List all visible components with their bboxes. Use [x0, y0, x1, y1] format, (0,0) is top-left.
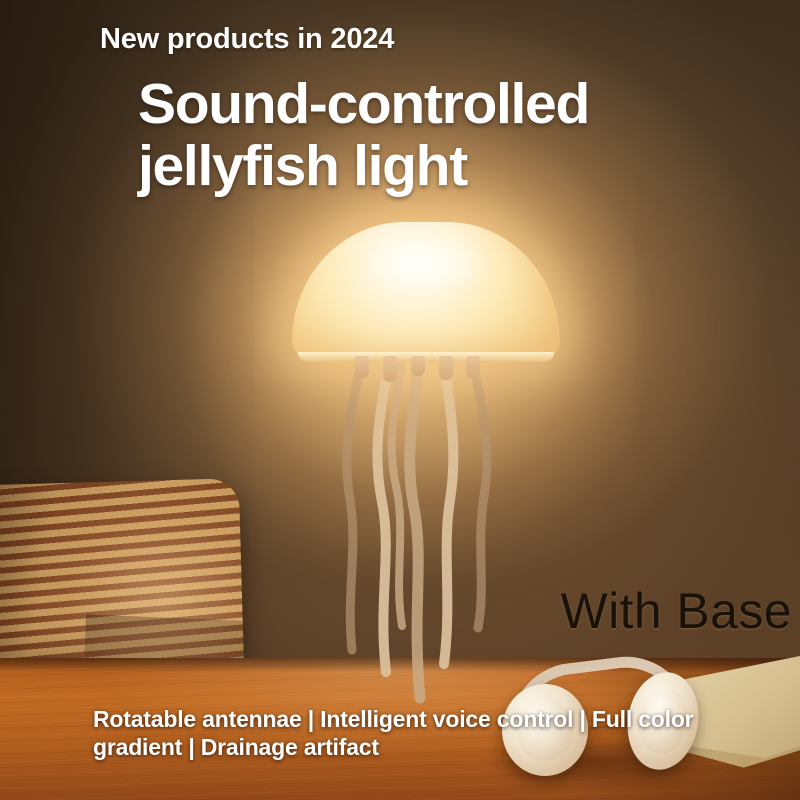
dome-bottom-rim [298, 352, 554, 362]
title-line-2: jellyfish light [138, 136, 589, 198]
with-base-badge: With Base [561, 582, 792, 640]
tentacle-mount-5 [466, 356, 480, 378]
tentacle-mount-1 [355, 356, 369, 378]
tentacle-mount-3 [411, 356, 425, 376]
tentacle-mount-4 [439, 356, 453, 380]
product-title: Sound-controlled jellyfish light [138, 74, 589, 197]
feature-list-text: Rotatable antennae | Intelligent voice c… [93, 705, 753, 761]
title-line-1: Sound-controlled [138, 72, 589, 136]
dome-highlight [358, 236, 488, 296]
tentacle-mount-2 [383, 356, 397, 382]
kicker-text: New products in 2024 [100, 23, 394, 56]
product-ad-image: New products in 2024 Sound-controlled je… [0, 0, 800, 800]
